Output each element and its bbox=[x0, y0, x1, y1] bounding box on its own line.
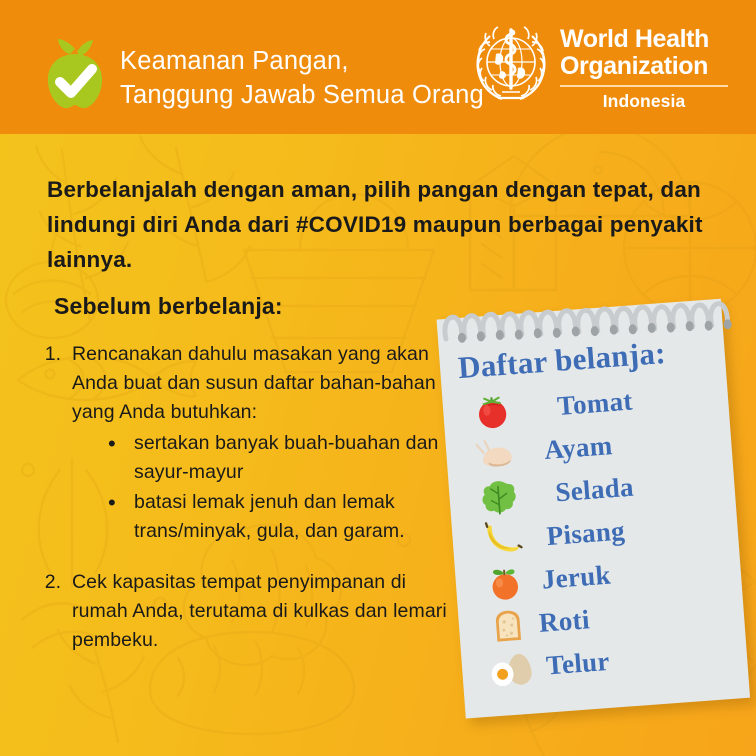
green-apple-check-icon bbox=[44, 38, 106, 110]
banana-icon bbox=[469, 517, 534, 563]
list-item-label: Roti bbox=[538, 604, 591, 639]
step-item-2: 2. Cek kapasitas tempat penyimpanan di r… bbox=[34, 568, 454, 655]
step-item-1: 1. Rencanakan dahulu masakan yang akan A… bbox=[34, 340, 454, 546]
egg-icon bbox=[479, 645, 544, 691]
orange-icon bbox=[473, 560, 538, 606]
bullet-glyph: • bbox=[108, 429, 134, 487]
who-emblem-icon bbox=[472, 22, 550, 104]
sub-list-item-text: sertakan banyak buah-buahan dan sayur-ma… bbox=[134, 429, 454, 487]
sub-list-item-text: batasi lemak jenuh dan lemak trans/minya… bbox=[134, 488, 454, 546]
intro-paragraph: Berbelanjalah dengan aman, pilih pangan … bbox=[47, 172, 727, 277]
list-item-label: Telur bbox=[545, 646, 611, 682]
list-item-label: Tomat bbox=[556, 386, 634, 422]
step-text: Cek kapasitas tempat penyimpanan di ruma… bbox=[72, 568, 454, 655]
step-number: 1. bbox=[34, 340, 72, 546]
shopping-list-notepad: Daftar belanja: Tomat bbox=[417, 272, 756, 724]
lettuce-icon bbox=[466, 474, 531, 520]
list-item-label: Pisang bbox=[546, 515, 626, 552]
list-item-label: Selada bbox=[554, 472, 634, 509]
poster-header: Keamanan Pangan, Tanggung Jawab Semua Or… bbox=[0, 0, 756, 134]
infographic-poster: Keamanan Pangan, Tanggung Jawab Semua Or… bbox=[0, 0, 756, 756]
sub-list-item: • sertakan banyak buah-buahan dan sayur-… bbox=[108, 429, 454, 487]
who-name-text: World Health Organization bbox=[560, 26, 728, 80]
shopping-list-items: Tomat Ayam bbox=[460, 374, 731, 693]
bullet-glyph: • bbox=[108, 488, 134, 546]
sub-list-item: • batasi lemak jenuh dan lemak trans/min… bbox=[108, 488, 454, 546]
who-wordmark: World Health Organization Indonesia bbox=[560, 22, 728, 112]
who-divider-rule bbox=[560, 85, 728, 87]
who-logo-block: World Health Organization Indonesia bbox=[472, 22, 728, 112]
campaign-title: Keamanan Pangan, Tanggung Jawab Semua Or… bbox=[120, 44, 484, 112]
who-country-text: Indonesia bbox=[560, 91, 728, 112]
section-subheading: Sebelum berbelanja: bbox=[54, 293, 283, 320]
list-item-label: Jeruk bbox=[541, 560, 612, 596]
chicken-icon bbox=[463, 431, 528, 477]
step-number: 2. bbox=[34, 568, 72, 655]
step-text: Rencanakan dahulu masakan yang akan Anda… bbox=[72, 340, 454, 427]
list-item-label: Ayam bbox=[543, 430, 613, 466]
steps-list: 1. Rencanakan dahulu masakan yang akan A… bbox=[34, 340, 454, 669]
bread-icon bbox=[476, 602, 541, 648]
tomato-icon bbox=[460, 388, 525, 434]
step-1-sublist: • sertakan banyak buah-buahan dan sayur-… bbox=[72, 429, 454, 546]
